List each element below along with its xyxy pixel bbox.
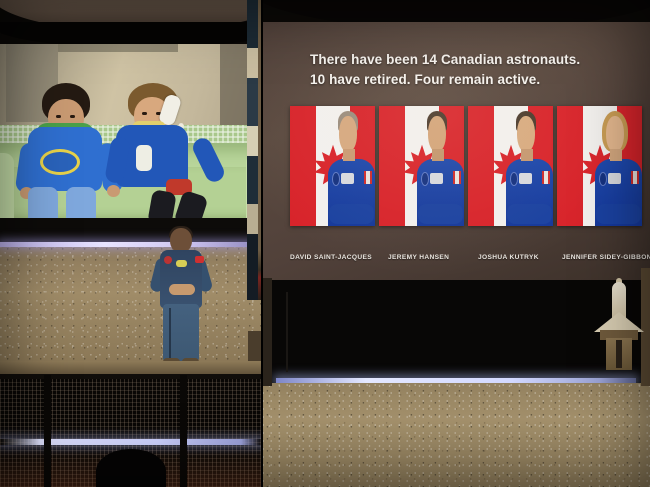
model-pedestal	[606, 338, 632, 370]
flag-red-bar	[290, 106, 316, 226]
railing-post	[180, 375, 187, 487]
neck	[521, 149, 532, 161]
flag-red-bar	[439, 106, 465, 226]
maple-leaf-icon	[488, 141, 534, 189]
maple-leaf-icon	[577, 141, 623, 189]
agency-patch-icon	[510, 172, 518, 186]
astronaut-name-row: DAVID SAINT-JACQUES JEREMY HANSEN JOSHUA…	[290, 254, 650, 268]
screenshot-root: There have been 14 Canadian astronauts. …	[0, 0, 650, 487]
astronaut-speaker	[152, 228, 210, 368]
astronaut-name: JOSHUA KUTRYK	[478, 254, 539, 261]
flag-red-bar	[350, 106, 376, 226]
astronaut-photo	[290, 106, 375, 226]
sweatshirt-badge	[40, 149, 80, 175]
astronaut-portrait	[504, 106, 553, 226]
crossed-arms	[418, 204, 463, 223]
canada-flag-backdrop	[557, 106, 642, 226]
name-tag	[341, 173, 353, 184]
neck	[343, 149, 354, 161]
canada-flag-patch-icon	[364, 171, 372, 184]
face	[428, 116, 445, 152]
face	[339, 116, 356, 152]
face	[517, 116, 534, 152]
speaker-hands	[169, 284, 195, 295]
flight-suit	[595, 159, 642, 226]
astronaut-name: DAVID SAINT-JACQUES	[290, 254, 372, 261]
stage-floor-right	[262, 383, 650, 487]
neck	[610, 149, 621, 161]
flight-suit	[417, 159, 464, 226]
flag-red-bar	[557, 106, 583, 226]
hair	[516, 111, 536, 133]
astronaut-photo-row	[290, 106, 642, 226]
presentation-screen: There have been 14 Canadian astronauts. …	[262, 22, 650, 280]
flag-red-bar	[379, 106, 405, 226]
name-tag	[430, 173, 442, 184]
name-tag	[519, 173, 531, 184]
agency-patch-icon	[332, 172, 340, 186]
crew-patch-icon	[176, 260, 187, 267]
mission-patch-icon	[164, 256, 172, 264]
flag-red-bar	[617, 106, 643, 226]
neck	[432, 149, 443, 161]
flag-red-bar	[528, 106, 554, 226]
stage-floor-left	[0, 245, 262, 365]
sweatshirt-badge	[136, 145, 152, 171]
flight-suit	[506, 159, 553, 226]
agency-patch-icon	[599, 172, 607, 186]
headline-line-2: 10 have retired. Four remain active.	[310, 70, 630, 90]
astronaut-portrait	[593, 106, 642, 226]
canada-flag-backdrop	[379, 106, 464, 226]
child-arm	[190, 135, 227, 185]
crossed-arms	[329, 204, 374, 223]
railing-led-glow	[0, 439, 262, 445]
maple-leaf-icon	[399, 141, 445, 189]
crossed-arms	[507, 204, 552, 223]
name-tag	[608, 173, 620, 184]
canada-flag-patch-icon	[631, 171, 639, 184]
canada-flag-patch-icon	[542, 171, 550, 184]
astronaut-photo	[468, 106, 553, 226]
stage-back-shadow	[0, 218, 262, 242]
stage-edge-led-left	[0, 242, 262, 247]
hair	[427, 111, 447, 133]
stage-column-left	[262, 278, 272, 386]
maple-leaf-icon	[310, 141, 356, 189]
face	[606, 116, 623, 152]
astronaut-photo	[557, 106, 642, 226]
microphone-stand	[286, 292, 288, 372]
foreground-head-silhouette	[96, 449, 166, 487]
headline-line-1: There have been 14 Canadian astronauts.	[310, 50, 630, 70]
panel-divider	[261, 0, 263, 487]
space-shuttle-model	[592, 278, 646, 370]
canada-flag-backdrop	[290, 106, 375, 226]
astronaut-portrait	[326, 106, 375, 226]
hair	[602, 111, 628, 152]
railing-handrail	[0, 361, 262, 375]
leg-seam	[169, 308, 171, 362]
astronaut-name: JEREMY HANSEN	[388, 254, 449, 261]
child-right	[110, 83, 222, 239]
railing-post	[44, 375, 51, 487]
canada-flag-patch-icon	[195, 256, 204, 263]
agency-patch-icon	[421, 172, 429, 186]
crossed-arms	[596, 204, 641, 223]
wall-trim	[58, 44, 178, 52]
flag-red-bar	[468, 106, 494, 226]
astronaut-photo	[379, 106, 464, 226]
astronaut-portrait	[415, 106, 464, 226]
right-photo-panel: There have been 14 Canadian astronauts. …	[262, 0, 650, 487]
left-photo-panel	[0, 0, 262, 487]
shuttle-wings	[594, 312, 644, 332]
eye	[70, 115, 75, 118]
flight-suit	[328, 159, 375, 226]
canada-flag-backdrop	[468, 106, 553, 226]
astronaut-name: JENNIFER SIDEY-GIBBONS	[562, 254, 650, 261]
eye	[56, 115, 61, 118]
slide-headline: There have been 14 Canadian astronauts. …	[310, 50, 630, 90]
hair	[338, 111, 358, 133]
eye	[142, 112, 147, 115]
canada-flag-patch-icon	[453, 171, 461, 184]
